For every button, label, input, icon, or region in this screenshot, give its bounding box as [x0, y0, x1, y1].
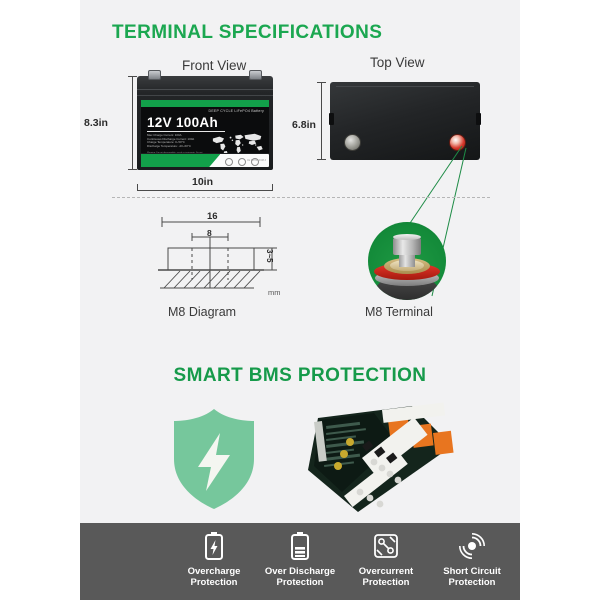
dimension-depth-text: 6.8in	[292, 119, 316, 131]
terminal-bolt-head-top	[393, 234, 421, 240]
feature-overcurrent-protection: Overcurrent Protection	[342, 531, 430, 588]
certification-text: CE RoHS UN38.3	[247, 159, 266, 162]
m8-outer-width-text: 16	[207, 211, 218, 222]
spec-line: Discharge Temperature: -20~60°C	[147, 145, 194, 149]
certification-icon	[225, 158, 233, 166]
m8-diagram-label: M8 Diagram	[168, 305, 236, 319]
feature-label-line1: Over Discharge	[256, 566, 344, 577]
feature-label-line1: Overcurrent	[342, 566, 430, 577]
width-dimension-cap-right	[272, 184, 273, 191]
battery-bolt-icon	[170, 531, 258, 561]
case-lid-line-2	[137, 95, 273, 96]
terminal-post-positive	[249, 70, 262, 80]
height-dimension-cap-bottom	[128, 169, 137, 170]
m8-inner-width-text: 8	[207, 228, 212, 238]
m8-terminal-label: M8 Terminal	[365, 305, 433, 319]
feature-label-line1: Short Circuit	[428, 566, 516, 577]
short-circuit-icon	[428, 531, 516, 561]
depth-dimension-cap-top	[317, 82, 326, 83]
battery-front-view-image: DEEP CYCLE LiFePO4 Battery 12V 100Ah Max…	[137, 76, 273, 170]
feature-label-line1: Cell Voltage	[512, 566, 600, 577]
terminal-specifications-title: TERMINAL SPECIFICATIONS	[0, 22, 600, 44]
feature-overcharge-protection: Overcharge Protection	[170, 531, 258, 588]
negative-terminal	[344, 134, 361, 151]
height-dimension-line	[132, 76, 133, 170]
height-dimension-cap-top	[128, 76, 137, 77]
dimension-height-text: 8.3in	[84, 117, 108, 129]
bms-circuit-board-image	[300, 400, 458, 522]
width-dimension-cap-left	[137, 184, 138, 191]
protection-features-bar: Overcharge Protection Over Discharge Pro…	[80, 523, 520, 600]
terminal-post-negative	[148, 70, 161, 80]
case-notch-right	[476, 113, 481, 125]
feature-over-discharge-protection: Over Discharge Protection	[256, 531, 344, 588]
m8-terminal-closeup-image	[368, 222, 446, 300]
feature-label-line2: Protection	[170, 577, 258, 588]
top-view-label: Top View	[370, 55, 425, 70]
feature-short-circuit-protection: Short Circuit Protection	[428, 531, 516, 588]
battery-top-view-image	[330, 82, 480, 160]
battery-spec-lines: Max Charge Current: 100A Continuous Disc…	[147, 134, 194, 148]
depth-dimension-line	[321, 82, 322, 160]
infographic-page: TERMINAL SPECIFICATIONS Front View Top V…	[0, 0, 600, 600]
label-bottom-strip: CE RoHS UN38.3	[141, 154, 269, 167]
positive-terminal	[449, 134, 466, 151]
battery-fine-print: Warning: Do not disassemble, crush or in…	[147, 152, 207, 153]
label-green-stripe-top	[141, 100, 269, 107]
battery-brand-line: DEEP CYCLE LiFePO4 Battery	[209, 109, 264, 113]
battery-model-text: 12V 100Ah	[147, 115, 218, 130]
certification-icon	[238, 158, 246, 166]
front-view-label: Front View	[182, 58, 246, 73]
feature-label-line2: Self Balance	[512, 577, 600, 588]
smart-bms-protection-title: SMART BMS PROTECTION	[0, 365, 600, 387]
terminal-bolt-shaft	[399, 253, 415, 267]
m8-thickness-text: 3~5	[265, 249, 274, 263]
section-divider	[112, 197, 490, 198]
feature-label-line2: Protection	[428, 577, 516, 588]
feature-label-line1: Overcharge	[170, 566, 258, 577]
feature-label-line2: Protection	[342, 577, 430, 588]
battery-low-icon	[256, 531, 344, 561]
cell-balance-icon	[512, 531, 600, 561]
depth-dimension-cap-bottom	[317, 159, 326, 160]
feature-cell-voltage-self-balance: Cell Voltage Self Balance	[512, 531, 600, 588]
dimension-width-text: 10in	[192, 176, 213, 188]
case-notch-left	[329, 113, 334, 125]
label-green-wedge	[141, 154, 220, 167]
battery-label: DEEP CYCLE LiFePO4 Battery 12V 100Ah Max…	[141, 107, 269, 153]
m8-unit-text: mm	[268, 288, 281, 297]
top-case-edge	[336, 86, 474, 87]
width-dimension-line	[137, 190, 273, 191]
world-map-graphic	[210, 131, 266, 153]
case-lid-line	[137, 89, 273, 90]
circuit-icon	[342, 531, 430, 561]
terminal-bolt-head	[393, 238, 421, 255]
feature-label-line2: Protection	[256, 577, 344, 588]
shield-icon	[168, 407, 260, 511]
